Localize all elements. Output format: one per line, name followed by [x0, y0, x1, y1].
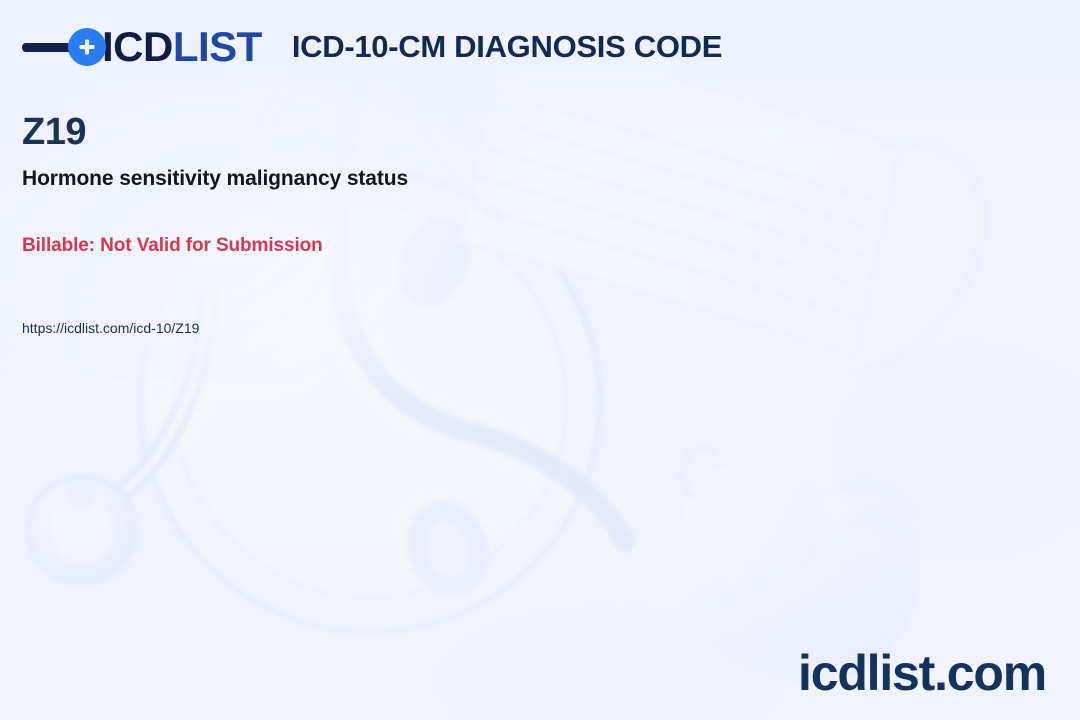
logo-word-icd: ICD	[102, 23, 173, 70]
billable-status: Billable: Not Valid for Submission	[22, 235, 408, 258]
page-header: ICDLIST ICD-10-CM DIAGNOSIS CODE	[22, 26, 722, 68]
dash-icon	[22, 43, 74, 52]
page-root: ICDLIST ICD-10-CM DIAGNOSIS CODE Z19 Hor…	[0, 0, 1080, 720]
icdlist-logo[interactable]: ICDLIST	[22, 26, 262, 68]
diagnosis-description: Hormone sensitivity malignancy status	[22, 166, 408, 191]
diagnosis-info: Z19 Hormone sensitivity malignancy statu…	[22, 113, 408, 337]
source-url[interactable]: https://icdlist.com/icd-10/Z19	[22, 320, 408, 337]
page-title: ICD-10-CM DIAGNOSIS CODE	[292, 29, 722, 65]
plus-icon	[68, 28, 106, 66]
logo-wordmark: ICDLIST	[102, 26, 262, 68]
logo-word-list: LIST	[173, 23, 262, 70]
diagnosis-code: Z19	[22, 113, 408, 153]
footer-brand[interactable]: icdlist.com	[798, 648, 1046, 698]
